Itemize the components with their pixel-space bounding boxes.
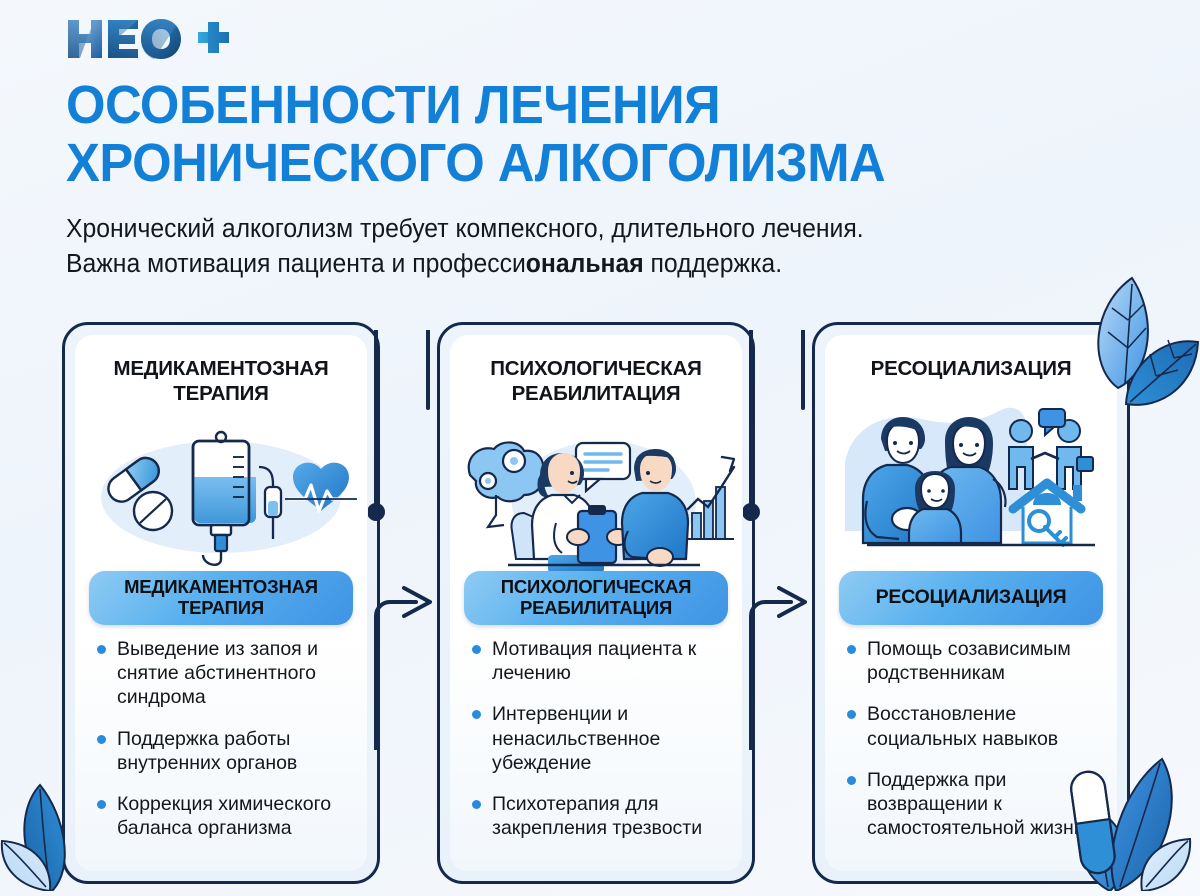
subtitle-line2-emphasis: ональная <box>526 250 644 278</box>
list-item: Интервенции и ненасильственное убеждение <box>470 702 730 775</box>
list-item: Коррекция химического баланса организма <box>95 792 355 840</box>
page-subtitle: Хронический алкоголизм требует компексно… <box>66 212 1114 281</box>
card-pill-label[interactable]: МЕДИКАМЕНТОЗНАЯ ТЕРАПИЯ <box>89 571 353 625</box>
card-pill-label[interactable]: ПСИХОЛОГИЧЕСКАЯ РЕАБИЛИТАЦИЯ <box>464 571 728 625</box>
page-title-line2: ХРОНИЧЕСКОГО АЛКОГОЛИЗМА <box>66 134 1091 192</box>
page-title: ОСОБЕННОСТИ ЛЕЧЕНИЯ ХРОНИЧЕСКОГО АЛКОГОЛ… <box>66 76 1091 193</box>
card-inner: РЕСОЦИАЛИЗАЦИЯ <box>825 335 1117 871</box>
card-bullet-list: Помощь созависимым родственникам Восстан… <box>845 637 1105 857</box>
illustration-family-handshake-house-key-icon <box>825 386 1117 556</box>
card-heading: РЕСОЦИАЛИЗАЦИЯ <box>825 335 1117 386</box>
list-item: Поддержка при возвращении к самостоятель… <box>845 768 1105 841</box>
illustration-iv-drip-pills-heart-icon <box>75 410 367 580</box>
card-inner: МЕДИКАМЕНТОЗНАЯ ТЕРАПИЯ <box>75 335 367 871</box>
subtitle-line1: Хронический алкоголизм требует компексно… <box>66 215 864 243</box>
list-item: Выведение из запоя и снятие абстинентног… <box>95 637 355 710</box>
infographic-canvas: ОСОБЕННОСТИ ЛЕЧЕНИЯ ХРОНИЧЕСКОГО АЛКОГОЛ… <box>0 0 1200 896</box>
list-item: Восстановление социальных навыков <box>845 702 1105 750</box>
illustration-therapist-patient-brain-chart-icon <box>450 410 742 580</box>
list-item: Помощь созависимым родственникам <box>845 637 1105 685</box>
list-item: Психотерапия для закрепления трезвости <box>470 792 730 840</box>
card-inner: ПСИХОЛОГИЧЕСКАЯ РЕАБИЛИТАЦИЯ <box>450 335 742 871</box>
subtitle-line2-part1: Важна мотивация пациента и професси <box>66 250 526 278</box>
card-pill-label[interactable]: РЕСОЦИАЛИЗАЦИЯ <box>839 571 1103 625</box>
page-title-line1: ОСОБЕННОСТИ ЛЕЧЕНИЯ <box>66 75 720 135</box>
card-resocialization[interactable]: РЕСОЦИАЛИЗАЦИЯ <box>812 322 1130 884</box>
list-item: Поддержка работы внутренних органов <box>95 727 355 775</box>
list-item: Мотивация пациента к лечению <box>470 637 730 685</box>
subtitle-line2-part3: поддержка. <box>644 250 782 278</box>
card-psychological-rehabilitation[interactable]: ПСИХОЛОГИЧЕСКАЯ РЕАБИЛИТАЦИЯ <box>437 322 755 884</box>
card-heading: МЕДИКАМЕНТОЗНАЯ ТЕРАПИЯ <box>75 335 367 410</box>
card-heading: ПСИХОЛОГИЧЕСКАЯ РЕАБИЛИТАЦИЯ <box>450 335 742 410</box>
card-bullet-list: Мотивация пациента к лечению Интервенции… <box>470 637 730 857</box>
card-medication-therapy[interactable]: МЕДИКАМЕНТОЗНАЯ ТЕРАПИЯ <box>62 322 380 884</box>
card-bullet-list: Выведение из запоя и снятие абстинентног… <box>95 637 355 857</box>
brand-logo <box>66 16 236 62</box>
